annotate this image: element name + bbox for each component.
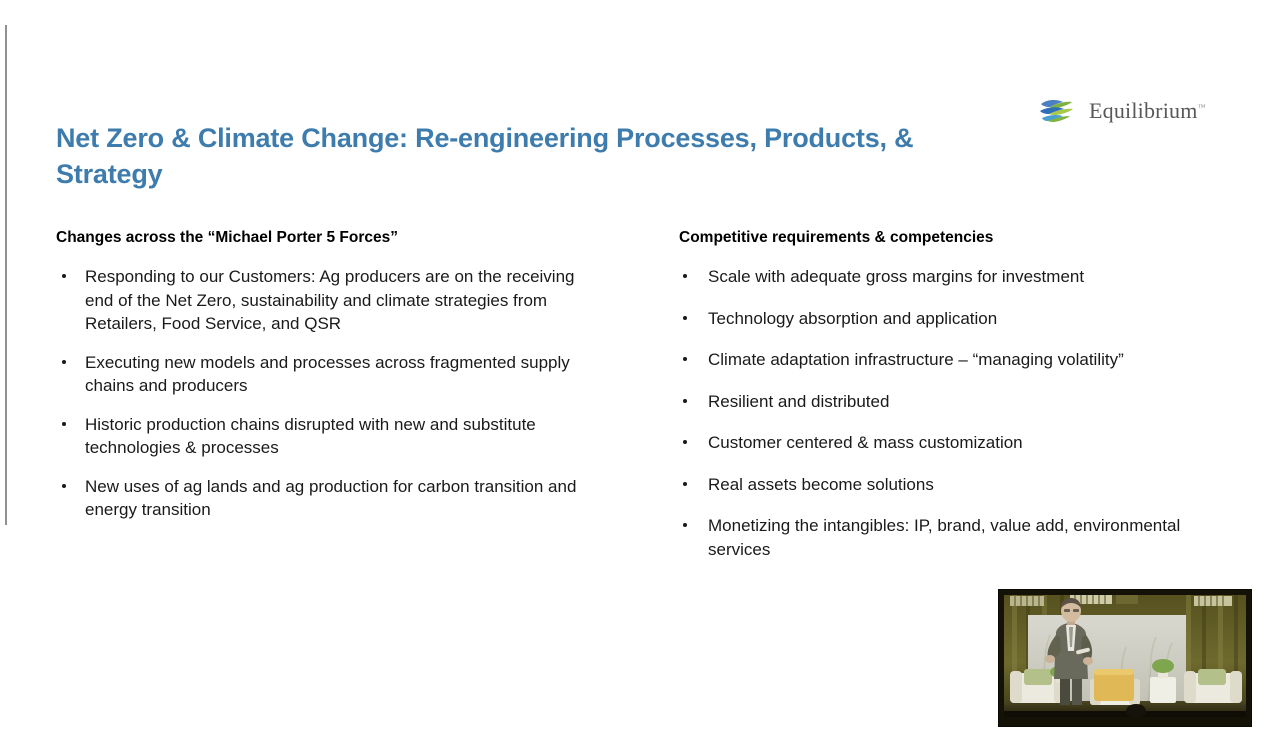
left-column-heading: Changes across the “Michael Porter 5 For…: [56, 228, 586, 247]
list-item: Historic production chains disrupted wit…: [56, 413, 586, 460]
logo-trademark: ™: [1198, 103, 1206, 112]
right-content-column: Competitive requirements & competencies …: [679, 228, 1219, 579]
list-item: Technology absorption and application: [679, 307, 1219, 330]
list-item: New uses of ag lands and ag production f…: [56, 475, 586, 522]
list-item: Customer centered & mass customization: [679, 431, 1219, 454]
presentation-slide: Net Zero & Climate Change: Re-engineerin…: [0, 0, 1276, 756]
left-content-column: Changes across the “Michael Porter 5 For…: [56, 228, 586, 521]
equilibrium-wave-leaf-icon: [1038, 96, 1080, 126]
logo-wordmark: Equilibrium™: [1089, 98, 1206, 124]
speaker-on-stage-video-thumbnail[interactable]: [998, 589, 1252, 727]
logo-name-text: Equilibrium: [1089, 98, 1198, 123]
list-item: Resilient and distributed: [679, 390, 1219, 413]
page-title: Net Zero & Climate Change: Re-engineerin…: [56, 121, 936, 192]
list-item: Responding to our Customers: Ag producer…: [56, 265, 586, 335]
list-item: Climate adaptation infrastructure – “man…: [679, 348, 1219, 371]
right-column-heading: Competitive requirements & competencies: [679, 228, 1219, 247]
list-item: Real assets become solutions: [679, 473, 1219, 496]
left-edge-rule: [5, 25, 7, 525]
left-column-bullet-list: Responding to our Customers: Ag producer…: [56, 265, 586, 521]
list-item: Executing new models and processes acros…: [56, 351, 586, 398]
list-item: Monetizing the intangibles: IP, brand, v…: [679, 514, 1219, 561]
list-item: Scale with adequate gross margins for in…: [679, 265, 1219, 288]
equilibrium-logo: Equilibrium™: [1038, 96, 1206, 126]
right-column-bullet-list: Scale with adequate gross margins for in…: [679, 265, 1219, 561]
